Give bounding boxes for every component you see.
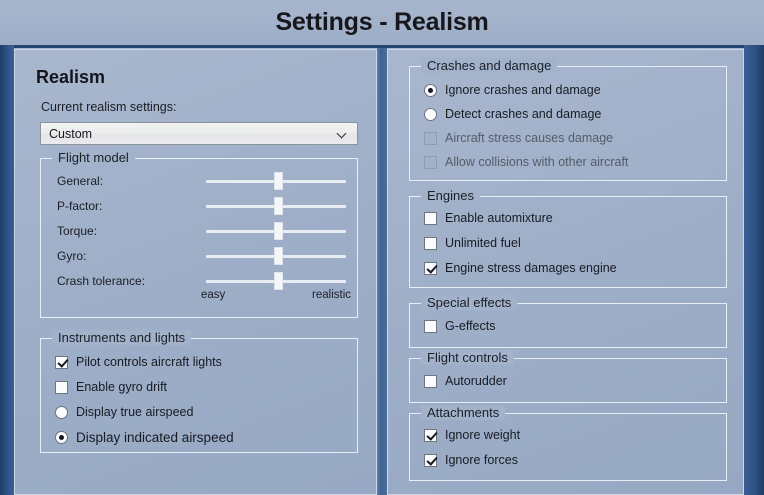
slider-label: Crash tolerance: [57, 274, 145, 288]
slider-thumb[interactable] [274, 272, 283, 290]
realism-settings-value: Custom [49, 127, 338, 141]
radio-icon[interactable] [55, 406, 68, 419]
title-bar: Settings - Realism [0, 0, 764, 45]
group-engines-title: Engines [421, 188, 480, 203]
slider-label: P-factor: [57, 199, 102, 213]
option-label: Ignore crashes and damage [445, 83, 601, 97]
option-label: Unlimited fuel [445, 236, 521, 250]
checkbox-icon [424, 156, 437, 169]
option-label: Enable automixture [445, 211, 553, 225]
slider-row: P-factor: [41, 196, 357, 216]
slider-row: Crash tolerance: [41, 271, 357, 291]
option-label: Allow collisions with other aircraft [445, 155, 628, 169]
group-attachments: Attachments Ignore weightIgnore forces [409, 413, 727, 481]
slider-gyro[interactable] [206, 247, 346, 265]
radio-ignore-crashes-and-damage[interactable]: Ignore crashes and damage [424, 81, 601, 99]
checkbox-icon[interactable] [55, 356, 68, 369]
option-label: Ignore weight [445, 428, 520, 442]
group-flight-controls-title: Flight controls [421, 350, 514, 365]
radio-display-indicated-airspeed[interactable]: Display indicated airspeed [55, 428, 234, 446]
checkbox-allow-collisions-with-other-aircraft: Allow collisions with other aircraft [424, 153, 628, 171]
slider-general[interactable] [206, 172, 346, 190]
checkbox-engine-stress-damages-engine[interactable]: Engine stress damages engine [424, 259, 617, 277]
checkbox-icon[interactable] [55, 381, 68, 394]
checkbox-pilot-controls-aircraft-lights[interactable]: Pilot controls aircraft lights [55, 353, 222, 371]
checkbox-icon[interactable] [424, 375, 437, 388]
slider-label: Gyro: [57, 249, 86, 263]
window-title: Settings - Realism [275, 8, 488, 37]
slider-thumb[interactable] [274, 222, 283, 240]
option-label: Display indicated airspeed [76, 430, 234, 445]
checkbox-icon[interactable] [424, 262, 437, 275]
checkbox-unlimited-fuel[interactable]: Unlimited fuel [424, 234, 521, 252]
option-label: Aircraft stress causes damage [445, 131, 613, 145]
panel-divider [377, 48, 387, 495]
group-special-effects: Special effects G-effects [409, 303, 727, 348]
group-flight-model: Flight model General:P-factor:Torque:Gyr… [40, 158, 358, 318]
checkbox-g-effects[interactable]: G-effects [424, 317, 495, 335]
radio-detect-crashes-and-damage[interactable]: Detect crashes and damage [424, 105, 601, 123]
checkbox-icon [424, 132, 437, 145]
checkbox-enable-gyro-drift[interactable]: Enable gyro drift [55, 378, 167, 396]
slider-row: General: [41, 171, 357, 191]
slider-label: Torque: [57, 224, 97, 238]
option-label: Display true airspeed [76, 405, 193, 419]
window-frame-right [744, 45, 764, 495]
slider-thumb[interactable] [274, 247, 283, 265]
checkbox-icon[interactable] [424, 454, 437, 467]
slider-row: Gyro: [41, 246, 357, 266]
checkbox-ignore-forces[interactable]: Ignore forces [424, 451, 518, 469]
group-crashes-and-damage: Crashes and damage Ignore crashes and da… [409, 66, 727, 181]
slider-crash-tolerance[interactable] [206, 272, 346, 290]
option-label: Ignore forces [445, 453, 518, 467]
checkbox-icon[interactable] [424, 429, 437, 442]
radio-icon[interactable] [55, 431, 68, 444]
group-flight-controls: Flight controls Autorudder [409, 358, 727, 403]
checkbox-ignore-weight[interactable]: Ignore weight [424, 426, 520, 444]
right-panel: Crashes and damage Ignore crashes and da… [387, 49, 744, 495]
group-crashes-and-damage-title: Crashes and damage [421, 58, 557, 73]
checkbox-icon[interactable] [424, 320, 437, 333]
page-title: Realism [36, 67, 105, 88]
option-label: Detect crashes and damage [445, 107, 601, 121]
option-label: Pilot controls aircraft lights [76, 355, 222, 369]
slider-row: Torque: [41, 221, 357, 241]
slider-p-factor[interactable] [206, 197, 346, 215]
slider-scale: easy realistic [201, 289, 351, 301]
checkbox-icon[interactable] [424, 237, 437, 250]
group-attachments-title: Attachments [421, 405, 505, 420]
checkbox-icon[interactable] [424, 212, 437, 225]
group-instruments-and-lights: Instruments and lights Pilot controls ai… [40, 338, 358, 453]
radio-icon[interactable] [424, 84, 437, 97]
slider-scale-max: realistic [312, 289, 351, 301]
group-special-effects-title: Special effects [421, 295, 517, 310]
group-flight-model-title: Flight model [52, 150, 135, 165]
left-panel: Realism Current realism settings: Custom… [14, 49, 377, 495]
slider-torque[interactable] [206, 222, 346, 240]
group-instruments-and-lights-title: Instruments and lights [52, 330, 191, 345]
option-label: Engine stress damages engine [445, 261, 617, 275]
settings-window: Settings - Realism Realism Current reali… [0, 0, 764, 495]
realism-settings-label: Current realism settings: [41, 100, 176, 114]
window-frame-left [0, 45, 14, 495]
slider-thumb[interactable] [274, 197, 283, 215]
checkbox-autorudder[interactable]: Autorudder [424, 372, 507, 390]
checkbox-enable-automixture[interactable]: Enable automixture [424, 209, 553, 227]
radio-icon[interactable] [424, 108, 437, 121]
group-engines: Engines Enable automixtureUnlimited fuel… [409, 196, 727, 288]
chevron-down-icon [338, 129, 347, 138]
realism-settings-select[interactable]: Custom [40, 122, 358, 145]
option-label: Enable gyro drift [76, 380, 167, 394]
slider-label: General: [57, 174, 103, 188]
slider-scale-min: easy [201, 289, 225, 301]
checkbox-aircraft-stress-causes-damage: Aircraft stress causes damage [424, 129, 613, 147]
option-label: G-effects [445, 319, 495, 333]
radio-display-true-airspeed[interactable]: Display true airspeed [55, 403, 193, 421]
slider-thumb[interactable] [274, 172, 283, 190]
option-label: Autorudder [445, 374, 507, 388]
